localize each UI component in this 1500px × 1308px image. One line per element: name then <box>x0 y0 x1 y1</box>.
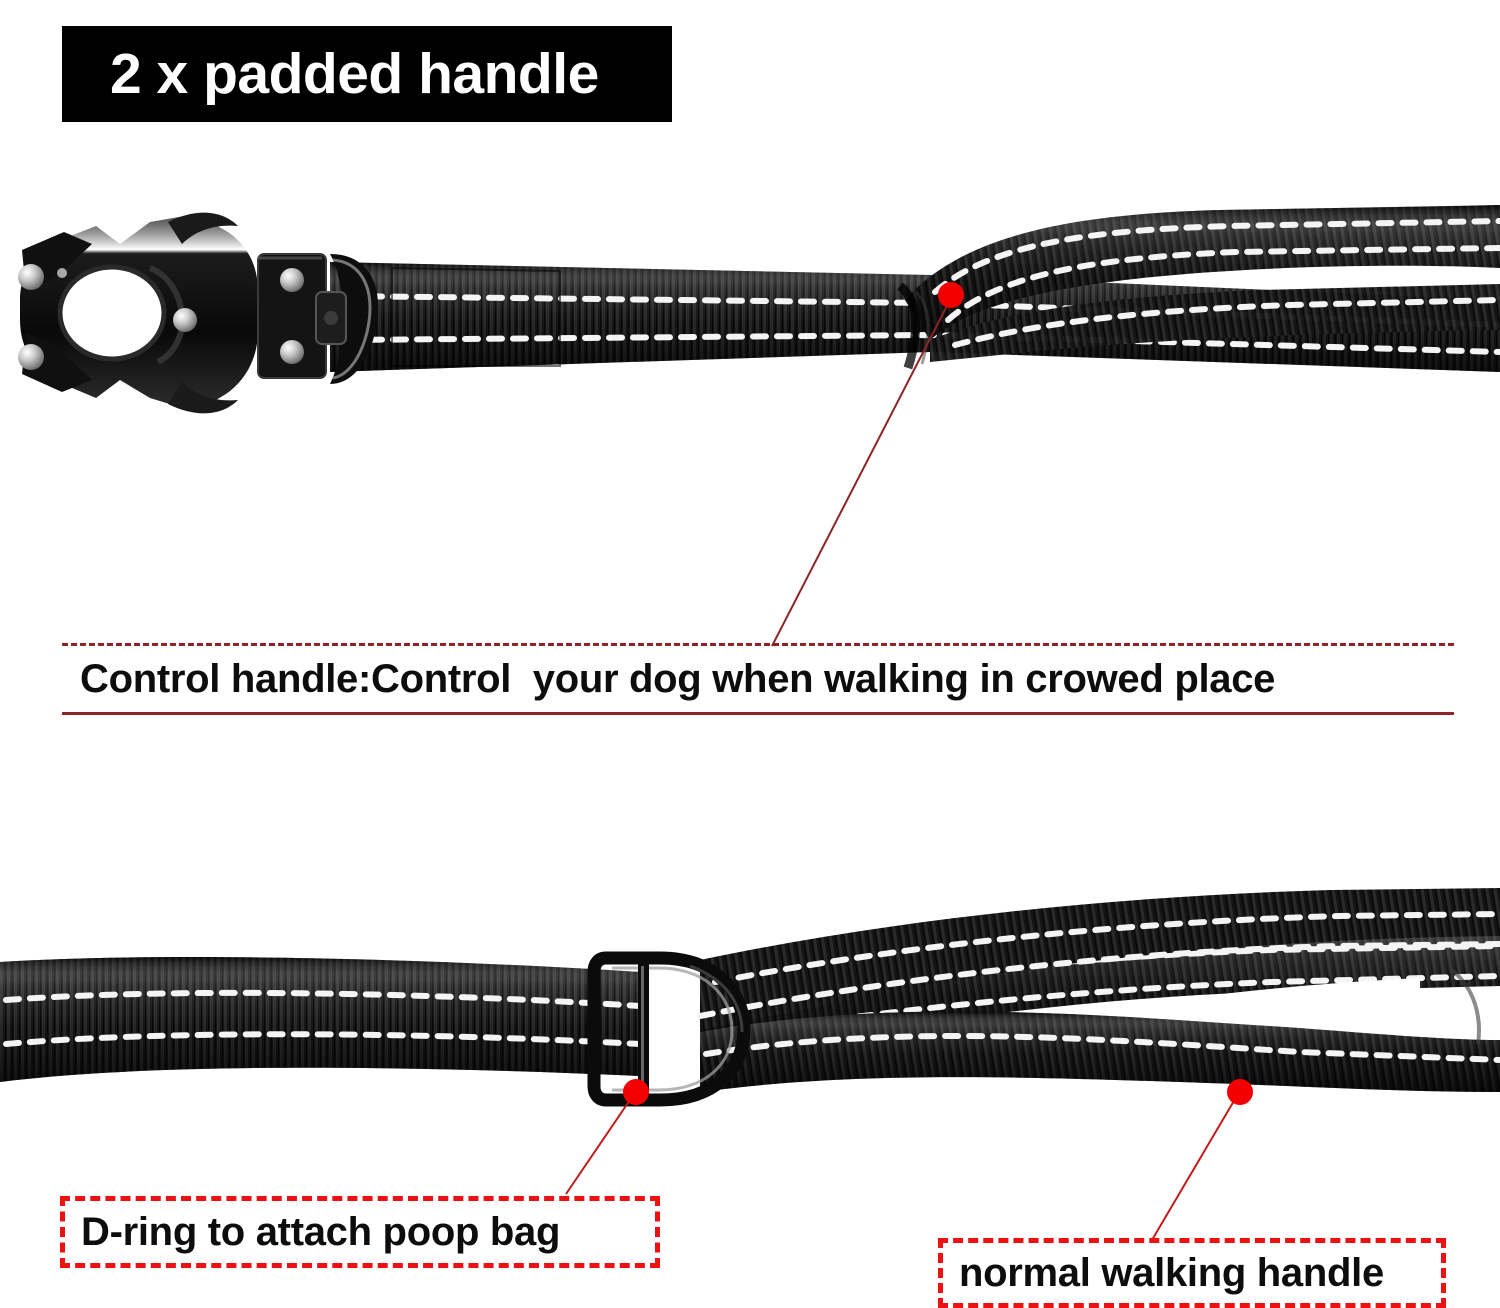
lower-leash <box>0 888 1500 1100</box>
product-infographic: 2 x padded handle Control handle:Control… <box>0 0 1500 1308</box>
page-title: 2 x padded handle <box>62 46 599 103</box>
title-banner: 2 x padded handle <box>62 26 672 122</box>
metal-clasp <box>18 213 326 414</box>
lower-left-strap <box>0 957 640 1082</box>
upper-leash <box>330 205 1500 372</box>
marker-dot-walking-handle <box>1227 1079 1253 1105</box>
marker-dot-control-handle <box>938 282 964 308</box>
callout-walking-handle: normal walking handle <box>938 1238 1446 1308</box>
leader-line-dring <box>566 1094 634 1194</box>
callout-control-handle: Control handle:Control your dog when wal… <box>62 643 1454 715</box>
callout-control-handle-label: Control handle:Control your dog when wal… <box>62 657 1275 702</box>
marker-dot-d-ring <box>623 1079 649 1105</box>
callout-d-ring: D-ring to attach poop bag <box>60 1196 660 1268</box>
callout-walking-handle-label: normal walking handle <box>943 1251 1384 1296</box>
callout-d-ring-label: D-ring to attach poop bag <box>65 1210 560 1255</box>
leader-line-walking <box>1152 1094 1238 1240</box>
